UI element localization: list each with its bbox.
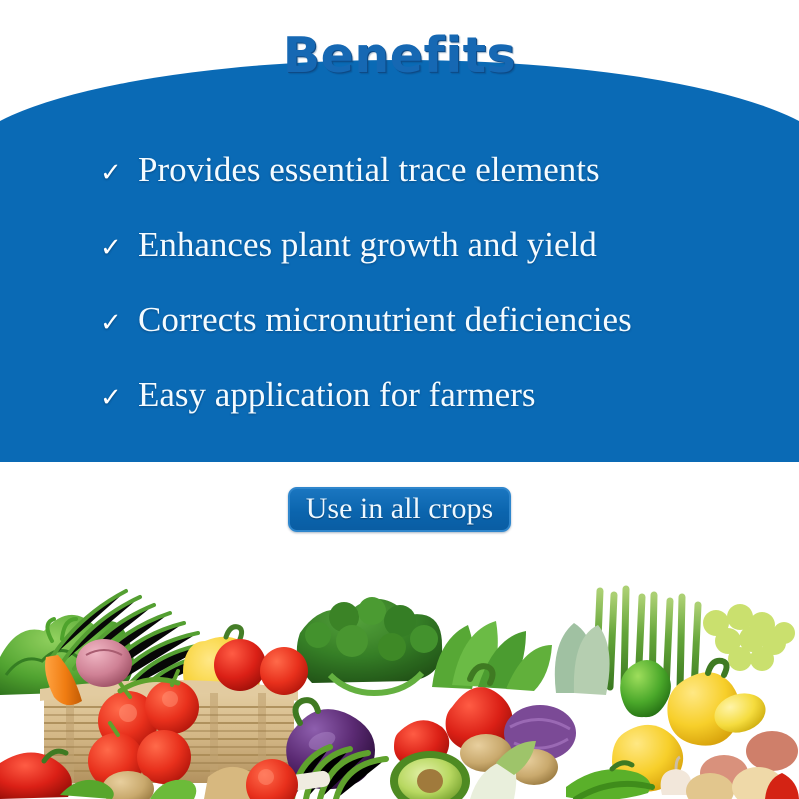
badge-container: Use in all crops bbox=[0, 487, 799, 532]
list-item: ✓ Provides essential trace elements bbox=[0, 152, 799, 227]
use-in-all-crops-badge: Use in all crops bbox=[288, 487, 511, 532]
benefit-label: Provides essential trace elements bbox=[138, 152, 600, 187]
check-icon: ✓ bbox=[100, 235, 138, 261]
page-title: Benefits bbox=[283, 27, 516, 84]
list-item: ✓ Corrects micronutrient deficiencies bbox=[0, 302, 799, 377]
vegetables-photo bbox=[0, 537, 799, 799]
list-item: ✓ Easy application for farmers bbox=[0, 377, 799, 452]
title-container: Benefits bbox=[0, 0, 799, 110]
badge-label: Use in all crops bbox=[306, 492, 493, 525]
check-icon: ✓ bbox=[100, 160, 138, 186]
benefit-label: Corrects micronutrient deficiencies bbox=[138, 302, 632, 337]
benefit-label: Enhances plant growth and yield bbox=[138, 227, 597, 262]
benefits-list: ✓ Provides essential trace elements ✓ En… bbox=[0, 152, 799, 452]
check-icon: ✓ bbox=[100, 310, 138, 336]
check-icon: ✓ bbox=[100, 385, 138, 411]
benefit-label: Easy application for farmers bbox=[138, 377, 535, 412]
benefits-poster: Benefits ✓ Provides essential trace elem… bbox=[0, 0, 799, 799]
list-item: ✓ Enhances plant growth and yield bbox=[0, 227, 799, 302]
